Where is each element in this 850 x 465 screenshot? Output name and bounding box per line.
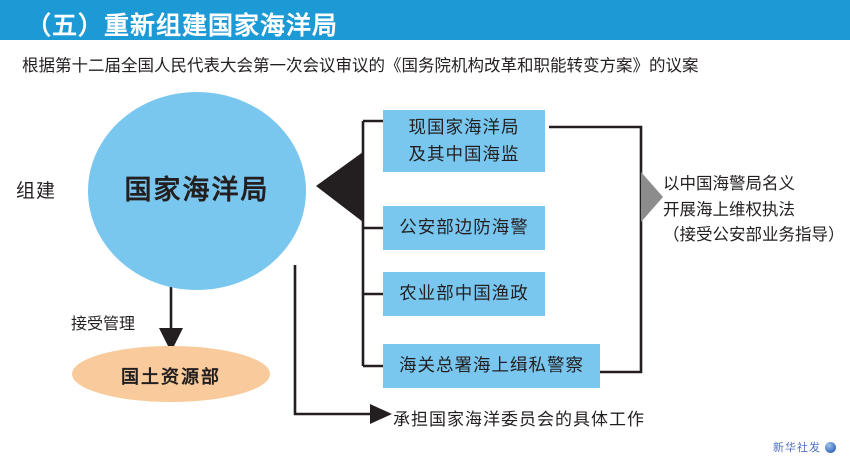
xinhua-logo-icon [825,442,836,453]
right-note-line-3: （接受公安部业务指导） [663,223,845,249]
merge-arrow-left-triangle [316,152,363,222]
compose-label: 组建 [16,176,56,203]
bottom-note: 承担国家海洋委员会的具体工作 [393,405,645,430]
right-bracket [549,127,641,372]
manage-edge-label: 接受管理 [71,310,135,334]
merged-unit-box-4: 海关总署海上缉私警察 [383,344,600,388]
merged-unit-box-2-line1: 公安部边防海警 [399,214,529,241]
infographic-canvas: （五）重新组建国家海洋局 根据第十二届全国人民代表大会第一次会议审议的《国务院机… [0,0,850,465]
bottom-note-arrow-triangle [370,404,392,424]
right-note-line-1: 以中国海警局名义 [663,172,845,198]
merged-unit-box-4-line1: 海关总署海上缉私警察 [399,352,584,379]
merged-unit-box-2: 公安部边防海警 [383,206,545,250]
merged-unit-box-1-line2: 及其中国海监 [409,141,520,168]
watermark: 新华社发 [773,439,836,455]
merged-unit-box-1-line1: 现国家海洋局 [409,114,520,141]
merged-unit-box-3: 农业部中国渔政 [383,272,545,316]
right-note-arrow-triangle [641,172,663,222]
right-note-line-2: 开展海上维权执法 [663,198,845,224]
bottom-connector-line [295,265,375,414]
merged-unit-box-3-line1: 农业部中国渔政 [399,280,529,307]
page-title: （五）重新组建国家海洋局 [26,6,338,42]
watermark-text: 新华社发 [773,439,821,455]
orange-node-label: 国土资源部 [72,363,270,389]
merged-unit-box-1: 现国家海洋局 及其中国海监 [383,110,545,172]
main-node-label: 国家海洋局 [88,168,306,207]
subtitle-text: 根据第十二届全国人民代表大会第一次会议审议的《国务院机构改革和职能转变方案》的议… [22,52,699,76]
right-note: 以中国海警局名义 开展海上维权执法 （接受公安部业务指导） [663,172,845,249]
